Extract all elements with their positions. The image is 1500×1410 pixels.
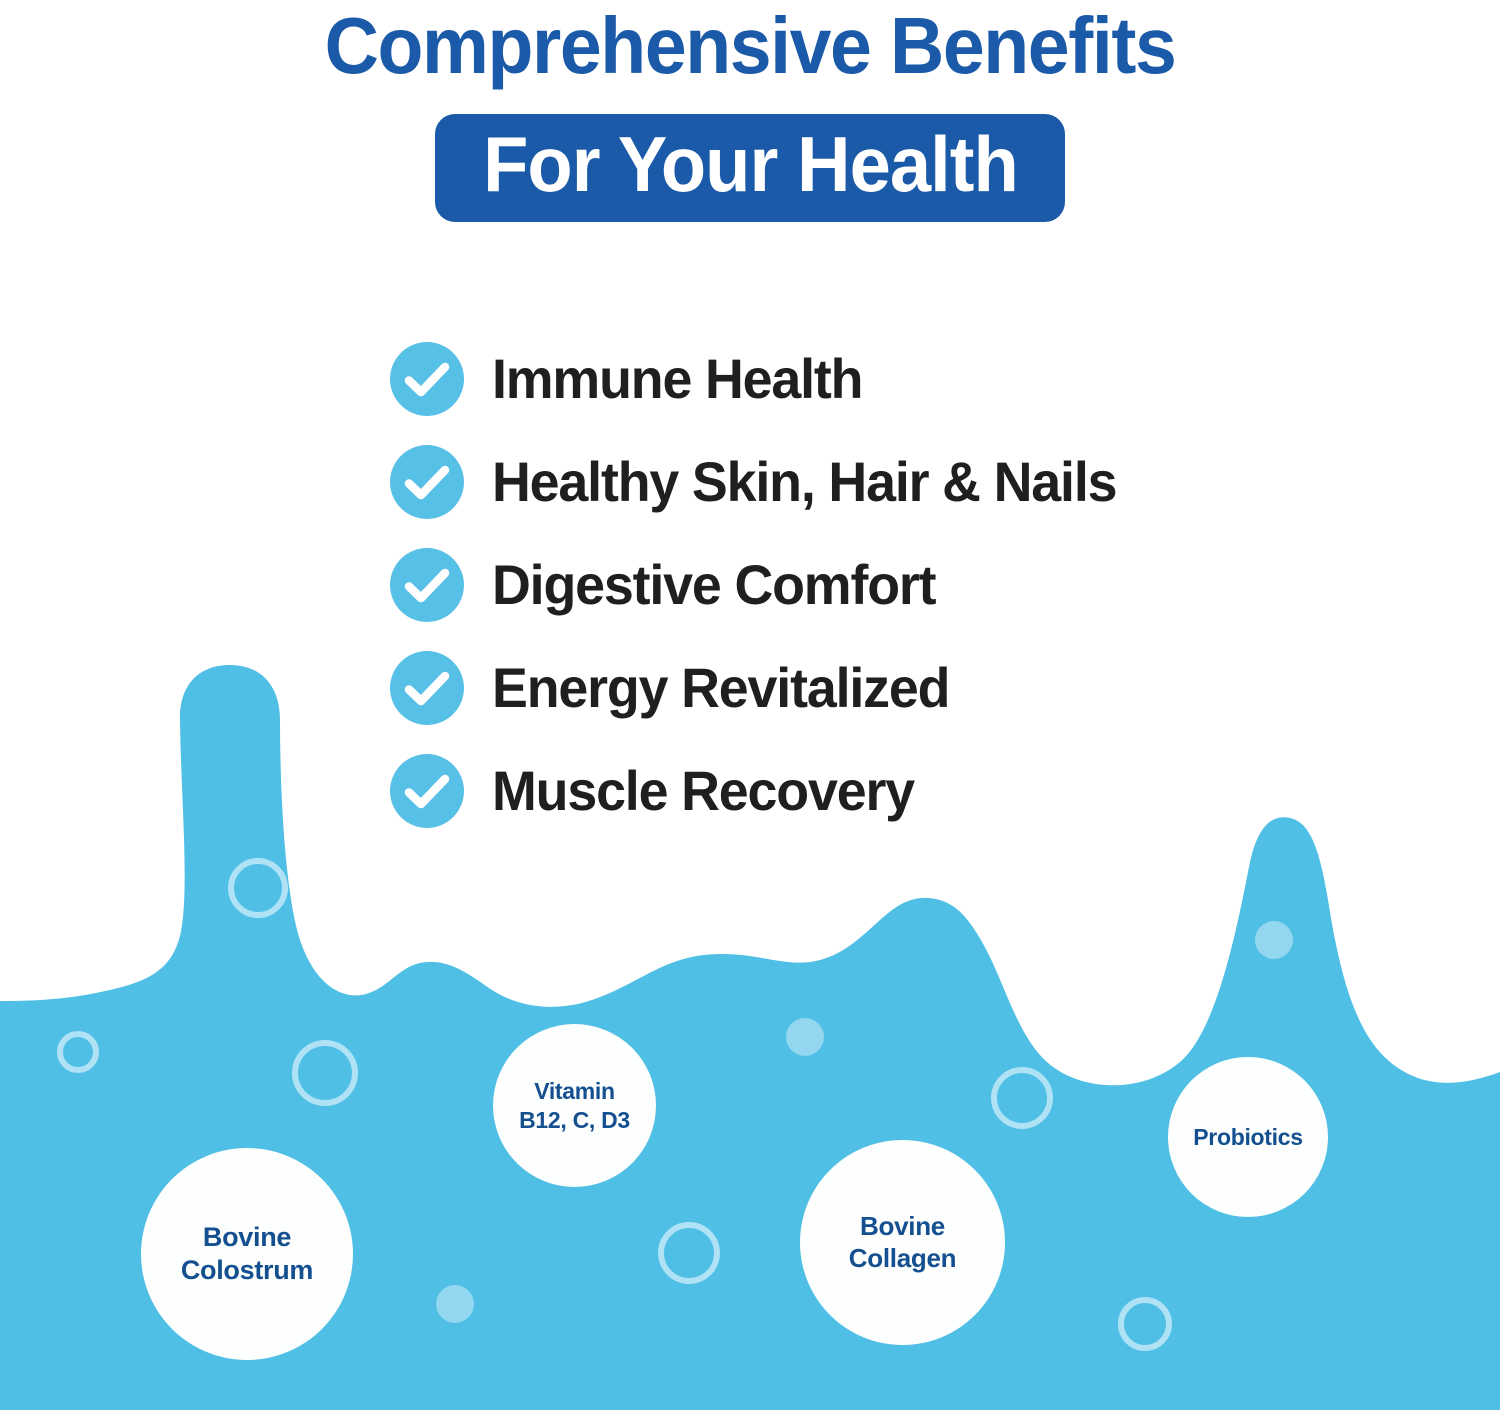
check-icon: [390, 548, 464, 622]
benefit-item-healthy-skin-hair-nails: Healthy Skin, Hair & Nails: [390, 430, 1142, 533]
ingredient-label: Bovine Collagen: [849, 1211, 956, 1274]
benefit-item-muscle-recovery: Muscle Recovery: [390, 739, 1142, 842]
check-icon: [390, 651, 464, 725]
bubble-ring: [991, 1067, 1053, 1129]
bubble-ring: [57, 1031, 99, 1073]
infographic-canvas: Comprehensive Benefits For Your Health I…: [0, 0, 1500, 1410]
check-icon: [390, 445, 464, 519]
ingredient-label-line: Bovine: [849, 1211, 956, 1243]
benefit-item-energy-revitalized: Energy Revitalized: [390, 636, 1142, 739]
bubble-dot: [1255, 921, 1293, 959]
ingredient-label: Vitamin B12, C, D3: [519, 1077, 630, 1133]
ingredient-label: Probiotics: [1193, 1123, 1302, 1151]
page-title-badge-wrapper: For Your Health: [0, 114, 1500, 222]
benefit-item-digestive-comfort: Digestive Comfort: [390, 533, 1142, 636]
ingredient-label-line: Colostrum: [181, 1254, 313, 1287]
benefit-label: Healthy Skin, Hair & Nails: [492, 449, 1116, 514]
ingredient-label-line: Vitamin: [519, 1077, 630, 1105]
ingredient-bubble-vitamin-b12-c-d3: Vitamin B12, C, D3: [493, 1024, 656, 1187]
page-title-line-1: Comprehensive Benefits: [45, 0, 1455, 86]
page-title-line-2: For Your Health: [483, 124, 1018, 206]
ingredient-label: Bovine Colostrum: [181, 1221, 313, 1287]
ingredient-bubble-bovine-colostrum: Bovine Colostrum: [141, 1148, 353, 1360]
ingredient-label-line: Bovine: [181, 1221, 313, 1254]
benefit-label: Digestive Comfort: [492, 552, 935, 617]
bubble-ring: [228, 858, 288, 918]
ingredient-label-line: B12, C, D3: [519, 1106, 630, 1134]
benefit-label: Immune Health: [492, 346, 862, 411]
check-icon: [390, 342, 464, 416]
benefit-label: Energy Revitalized: [492, 655, 949, 720]
ingredient-label-line: Probiotics: [1193, 1123, 1302, 1151]
page-title-badge: For Your Health: [435, 114, 1066, 222]
check-icon: [390, 754, 464, 828]
bubble-dot: [436, 1285, 474, 1323]
benefit-item-immune-health: Immune Health: [390, 327, 1142, 430]
benefit-label: Muscle Recovery: [492, 758, 914, 823]
heading-block: Comprehensive Benefits For Your Health: [0, 0, 1500, 222]
bubble-ring: [292, 1040, 358, 1106]
bubble-ring: [658, 1222, 720, 1284]
ingredient-bubble-probiotics: Probiotics: [1168, 1057, 1328, 1217]
bubble-ring: [1118, 1297, 1172, 1351]
benefits-list: Immune Health Healthy Skin, Hair & Nails…: [390, 327, 1142, 842]
ingredient-bubble-bovine-collagen: Bovine Collagen: [800, 1140, 1005, 1345]
ingredient-label-line: Collagen: [849, 1243, 956, 1275]
bubble-dot: [786, 1018, 824, 1056]
